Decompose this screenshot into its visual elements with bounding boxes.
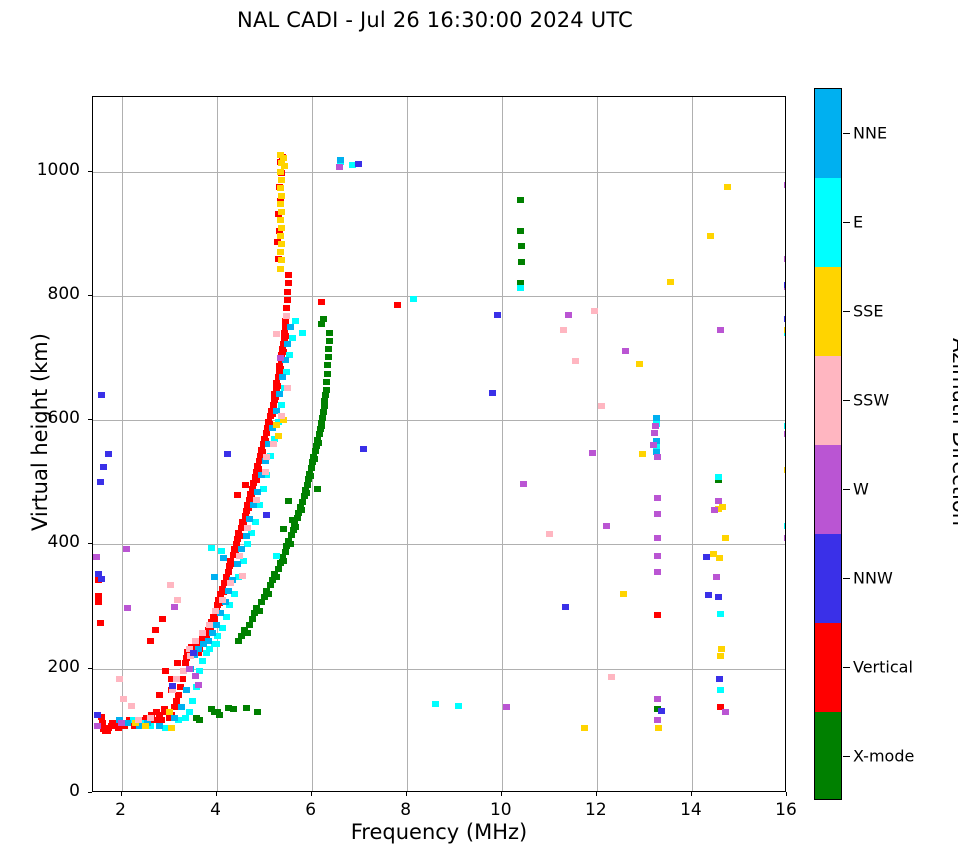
scatter-point	[152, 627, 159, 633]
scatter-point	[322, 392, 329, 398]
scatter-point	[166, 709, 173, 715]
scatter-point	[410, 296, 417, 302]
scatter-point	[186, 709, 193, 715]
scatter-point	[142, 723, 149, 729]
scatter-point	[651, 430, 658, 436]
colorbar-segment-nnw[interactable]	[815, 534, 841, 623]
scatter-point	[220, 555, 227, 561]
scatter-point	[589, 450, 596, 456]
scatter-point	[250, 502, 257, 508]
colorbar-tick-label-ssw: SSW	[853, 390, 889, 409]
scatter-point	[162, 668, 169, 674]
scatter-point	[246, 622, 253, 628]
scatter-point	[216, 712, 223, 718]
scatter-point	[292, 524, 299, 530]
scatter-point	[654, 553, 661, 559]
scatter-point	[717, 653, 724, 659]
scatter-point	[652, 423, 659, 429]
scatter-point	[520, 481, 527, 487]
scatter-point	[95, 599, 102, 605]
scatter-point	[235, 638, 242, 644]
scatter-point	[289, 517, 296, 523]
scatter-canvas	[93, 97, 785, 791]
scatter-point	[265, 591, 272, 597]
colorbar-tick-mark	[843, 578, 850, 579]
scatter-point	[171, 604, 178, 610]
scatter-point	[654, 535, 661, 541]
scatter-point	[116, 676, 123, 682]
scatter-point	[711, 507, 718, 513]
scatter-point	[715, 498, 722, 504]
y-tick-mark	[88, 295, 92, 296]
x-tick-label: 6	[281, 800, 341, 820]
scatter-point	[517, 197, 524, 203]
colorbar-tick-label-nne: NNE	[853, 123, 887, 142]
scatter-point	[209, 630, 216, 636]
scatter-point	[277, 233, 284, 239]
scatter-point	[287, 541, 294, 547]
plot-area	[92, 96, 786, 792]
scatter-point	[254, 489, 261, 495]
scatter-point	[337, 157, 344, 163]
scatter-point	[278, 257, 285, 263]
scatter-point	[186, 666, 193, 672]
scatter-point	[278, 193, 285, 199]
y-axis-label: Virtual height (km)	[28, 272, 52, 592]
scatter-point	[213, 622, 220, 628]
y-tick-mark	[88, 668, 92, 669]
scatter-point	[277, 217, 284, 223]
scatter-point	[316, 431, 323, 437]
scatter-point	[175, 692, 182, 698]
scatter-point	[227, 580, 234, 586]
scatter-point	[94, 723, 101, 729]
scatter-point	[724, 184, 731, 190]
scatter-point	[784, 423, 786, 429]
scatter-point	[581, 725, 588, 731]
scatter-point	[717, 327, 724, 333]
scatter-point	[98, 576, 105, 582]
scatter-point	[282, 549, 289, 555]
y-tick-label: 200	[10, 657, 80, 677]
scatter-point	[311, 456, 318, 462]
scatter-point	[715, 474, 722, 480]
scatter-point	[206, 646, 213, 652]
scatter-point	[199, 630, 206, 636]
y-tick-mark	[88, 171, 92, 172]
scatter-point	[283, 313, 290, 319]
scatter-point	[218, 548, 225, 554]
scatter-point	[173, 676, 180, 682]
scatter-point	[284, 385, 291, 391]
x-tick-label: 10	[471, 800, 531, 820]
scatter-point	[326, 330, 333, 336]
scatter-point	[784, 327, 786, 333]
colorbar-label: Azimuth Direction	[948, 272, 958, 592]
scatter-point	[722, 709, 729, 715]
colorbar[interactable]	[814, 88, 842, 800]
ionogram-figure: NAL CADI - Jul 26 16:30:00 2024 UTC 2468…	[0, 0, 958, 857]
x-tick-mark	[691, 792, 692, 796]
scatter-point	[336, 164, 343, 170]
scatter-point	[224, 451, 231, 457]
scatter-point	[244, 630, 251, 636]
scatter-point	[244, 541, 251, 547]
scatter-point	[603, 523, 610, 529]
scatter-point	[314, 486, 321, 492]
x-tick-label: 12	[566, 800, 626, 820]
scatter-point	[784, 523, 786, 529]
scatter-point	[211, 574, 218, 580]
scatter-point	[572, 358, 579, 364]
colorbar-segment-vertical[interactable]	[815, 623, 841, 712]
scatter-point	[654, 717, 661, 723]
scatter-point	[243, 705, 250, 711]
scatter-point	[123, 546, 130, 552]
scatter-point	[713, 574, 720, 580]
colorbar-tick-label-nnw: NNW	[853, 568, 893, 587]
scatter-point	[256, 608, 263, 614]
scatter-point	[225, 569, 232, 575]
scatter-point	[517, 228, 524, 234]
colorbar-tick-mark	[843, 489, 850, 490]
scatter-point	[280, 558, 287, 564]
scatter-point	[722, 535, 729, 541]
scatter-point	[262, 469, 269, 475]
scatter-point	[323, 387, 330, 393]
scatter-point	[242, 482, 249, 488]
scatter-point	[784, 182, 786, 188]
scatter-point	[270, 441, 277, 447]
scatter-point	[277, 355, 284, 361]
scatter-point	[206, 622, 213, 628]
scatter-point	[168, 725, 175, 731]
scatter-point	[263, 512, 270, 518]
scatter-point	[97, 479, 104, 485]
scatter-point	[249, 616, 256, 622]
scatter-point	[285, 498, 292, 504]
colorbar-tick-mark	[843, 400, 850, 401]
scatter-point	[120, 696, 127, 702]
scatter-point	[234, 492, 241, 498]
scatter-point	[192, 638, 199, 644]
scatter-point	[636, 361, 643, 367]
scatter-point	[276, 391, 283, 397]
scatter-point	[667, 279, 674, 285]
scatter-point	[287, 324, 294, 330]
scatter-point	[285, 280, 292, 286]
scatter-point	[319, 415, 326, 421]
scatter-point	[284, 289, 291, 295]
scatter-point	[178, 704, 185, 710]
colorbar-segment-sse[interactable]	[815, 267, 841, 356]
scatter-point	[195, 682, 202, 688]
scatter-point	[128, 703, 135, 709]
scatter-point	[654, 696, 661, 702]
scatter-point	[94, 712, 101, 718]
scatter-point	[97, 620, 104, 626]
x-tick-label: 2	[91, 800, 151, 820]
figure-title: NAL CADI - Jul 26 16:30:00 2024 UTC	[0, 8, 870, 32]
scatter-point	[193, 715, 200, 721]
x-tick-label: 16	[756, 800, 816, 820]
scatter-point	[278, 209, 285, 215]
scatter-point	[304, 482, 311, 488]
colorbar-tick-mark	[843, 667, 850, 668]
scatter-point	[503, 704, 510, 710]
scatter-point	[278, 241, 285, 247]
scatter-point	[718, 646, 725, 652]
colorbar-tick-label-x-mode: X-mode	[853, 746, 914, 765]
colorbar-segment-w[interactable]	[815, 445, 841, 534]
x-tick-mark	[596, 792, 597, 796]
scatter-point	[298, 507, 305, 513]
scatter-point	[236, 553, 243, 559]
scatter-point	[360, 446, 367, 452]
x-tick-mark	[786, 792, 787, 796]
scatter-point	[174, 597, 181, 603]
colorbar-tick-label-w: W	[853, 479, 869, 498]
scatter-point	[560, 327, 567, 333]
scatter-point	[715, 594, 722, 600]
scatter-point	[784, 535, 786, 541]
scatter-point	[324, 371, 331, 377]
scatter-point	[275, 433, 282, 439]
scatter-point	[263, 454, 270, 460]
scatter-point	[658, 708, 665, 714]
scatter-point	[655, 725, 662, 731]
scatter-point	[282, 333, 289, 339]
scatter-point	[182, 715, 189, 721]
scatter-point	[318, 423, 325, 429]
scatter-point	[784, 256, 786, 262]
scatter-point	[243, 533, 250, 539]
scatter-point	[608, 674, 615, 680]
scatter-point	[325, 346, 332, 352]
scatter-point	[239, 573, 246, 579]
scatter-point	[93, 554, 100, 560]
scatter-point	[455, 703, 462, 709]
scatter-point	[784, 431, 786, 437]
scatter-point	[174, 660, 181, 666]
scatter-point	[315, 440, 322, 446]
scatter-point	[518, 243, 525, 249]
scatter-point	[244, 525, 251, 531]
scatter-point	[355, 161, 362, 167]
scatter-point	[565, 312, 572, 318]
scatter-point	[208, 545, 215, 551]
scatter-point	[183, 687, 190, 693]
x-tick-label: 8	[376, 800, 436, 820]
scatter-point	[263, 430, 270, 436]
scatter-point	[147, 638, 154, 644]
scatter-point	[199, 658, 206, 664]
scatter-point	[238, 546, 245, 552]
scatter-point	[639, 451, 646, 457]
scatter-point	[288, 532, 295, 538]
scatter-point	[653, 415, 660, 421]
scatter-point	[654, 612, 661, 618]
x-tick-mark	[406, 792, 407, 796]
scatter-point	[321, 398, 328, 404]
scatter-point	[717, 611, 724, 617]
scatter-point	[281, 163, 288, 169]
scatter-point	[324, 362, 331, 368]
scatter-point	[280, 526, 287, 532]
scatter-point	[716, 555, 723, 561]
scatter-point	[303, 490, 310, 496]
scatter-point	[189, 698, 196, 704]
scatter-point	[273, 422, 280, 428]
scatter-point	[213, 641, 220, 647]
y-tick-label: 1000	[10, 160, 80, 180]
colorbar-tick-label-e: E	[853, 212, 863, 231]
scatter-point	[654, 454, 661, 460]
scatter-point	[234, 561, 241, 567]
scatter-point	[253, 477, 260, 483]
scatter-point	[598, 403, 605, 409]
scatter-point	[320, 316, 327, 322]
scatter-point	[98, 392, 105, 398]
scatter-point	[562, 604, 569, 610]
colorbar-tick-mark	[843, 756, 850, 757]
scatter-point	[169, 683, 176, 689]
scatter-point	[494, 312, 501, 318]
scatter-point	[205, 638, 212, 644]
scatter-point	[230, 706, 237, 712]
scatter-point	[394, 302, 401, 308]
scatter-point	[784, 316, 786, 322]
scatter-point	[325, 354, 332, 360]
colorbar-segment-x-mode[interactable]	[815, 712, 841, 800]
scatter-point	[278, 413, 285, 419]
scatter-point	[225, 588, 232, 594]
scatter-point	[784, 282, 786, 288]
colorbar-tick-mark	[843, 222, 850, 223]
scatter-point	[283, 305, 290, 311]
scatter-point	[622, 348, 629, 354]
scatter-point	[299, 499, 306, 505]
scatter-point	[707, 233, 714, 239]
scatter-point	[192, 673, 199, 679]
colorbar-tick-label-sse: SSE	[853, 301, 883, 320]
scatter-point	[277, 169, 284, 175]
x-tick-mark	[216, 792, 217, 796]
scatter-point	[277, 266, 284, 272]
scatter-point	[171, 715, 178, 721]
colorbar-segment-ssw[interactable]	[815, 356, 841, 445]
scatter-point	[285, 272, 292, 278]
scatter-point	[118, 720, 125, 726]
scatter-point	[179, 676, 186, 682]
scatter-point	[100, 464, 107, 470]
scatter-point	[156, 692, 163, 698]
scatter-point	[284, 341, 291, 347]
scatter-point	[284, 297, 291, 303]
scatter-point	[517, 285, 524, 291]
scatter-point	[273, 574, 280, 580]
y-tick-label: 0	[10, 781, 80, 801]
scatter-point	[273, 553, 280, 559]
scatter-point	[258, 599, 265, 605]
y-tick-mark	[88, 419, 92, 420]
scatter-point	[705, 592, 712, 598]
scatter-point	[124, 605, 131, 611]
colorbar-segment-nne[interactable]	[815, 89, 841, 178]
scatter-point	[654, 495, 661, 501]
scatter-point	[299, 330, 306, 336]
scatter-point	[323, 379, 330, 385]
scatter-point	[307, 473, 314, 479]
scatter-point	[784, 467, 786, 473]
scatter-point	[190, 650, 197, 656]
scatter-point	[654, 569, 661, 575]
scatter-point	[277, 185, 284, 191]
scatter-point	[212, 608, 219, 614]
x-tick-mark	[121, 792, 122, 796]
scatter-point	[277, 249, 284, 255]
scatter-point	[277, 201, 284, 207]
scatter-point	[326, 338, 333, 344]
y-tick-mark	[88, 543, 92, 544]
scatter-point	[254, 709, 261, 715]
scatter-point	[650, 442, 657, 448]
scatter-point	[156, 723, 163, 729]
scatter-point	[278, 225, 285, 231]
y-tick-mark	[88, 792, 92, 793]
scatter-point	[312, 448, 319, 454]
scatter-point	[591, 308, 598, 314]
scatter-point	[105, 451, 112, 457]
colorbar-tick-label-vertical: Vertical	[853, 657, 913, 676]
scatter-point	[219, 597, 226, 603]
x-tick-label: 14	[661, 800, 721, 820]
scatter-point	[717, 687, 724, 693]
scatter-point	[135, 717, 142, 723]
scatter-point	[279, 374, 286, 380]
scatter-point	[308, 465, 315, 471]
scatter-point	[275, 566, 282, 572]
scatter-point	[253, 497, 260, 503]
scatter-point	[147, 715, 154, 721]
scatter-point	[267, 582, 274, 588]
scatter-point	[318, 299, 325, 305]
x-axis-label: Frequency (MHz)	[92, 820, 786, 844]
scatter-point	[432, 701, 439, 707]
scatter-point	[278, 177, 285, 183]
scatter-point	[654, 511, 661, 517]
scatter-point	[716, 676, 723, 682]
scatter-point	[273, 331, 280, 337]
scatter-point	[167, 582, 174, 588]
scatter-point	[518, 259, 525, 265]
x-tick-label: 4	[186, 800, 246, 820]
scatter-point	[320, 409, 327, 415]
scatter-point	[489, 390, 496, 396]
scatter-point	[159, 616, 166, 622]
scatter-point	[280, 155, 287, 161]
colorbar-tick-mark	[843, 311, 850, 312]
scatter-point	[710, 551, 717, 557]
scatter-point	[546, 531, 553, 537]
scatter-point	[703, 554, 710, 560]
scatter-point	[321, 403, 328, 409]
scatter-point	[246, 516, 253, 522]
x-tick-mark	[501, 792, 502, 796]
x-tick-mark	[311, 792, 312, 796]
colorbar-segment-e[interactable]	[815, 178, 841, 267]
colorbar-tick-mark	[843, 133, 850, 134]
